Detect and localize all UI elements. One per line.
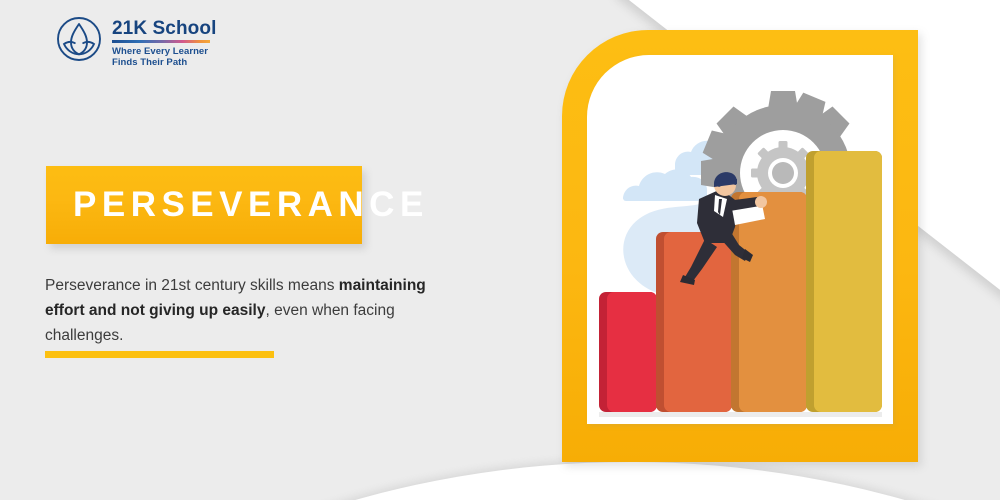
- brand-title: 21K School: [112, 19, 216, 39]
- brand-logo-text: 21K School Where Every Learner Finds The…: [112, 16, 216, 69]
- bar-4: [806, 151, 882, 412]
- slide-canvas: 21K School Where Every Learner Finds The…: [0, 0, 1000, 500]
- perseverance-illustration: [587, 55, 893, 424]
- brand-tagline-line2: Finds Their Path: [112, 57, 187, 68]
- brand-tagline: Where Every Learner Finds Their Path: [112, 46, 216, 69]
- illustration-frame: [562, 30, 918, 462]
- bar-3: [731, 192, 807, 412]
- description-lead: Perseverance in 21st century skills mean…: [45, 277, 339, 294]
- ground-line: [599, 412, 882, 417]
- bar-1: [599, 292, 657, 412]
- page-title: PERSEVERANCE: [46, 185, 429, 225]
- brand-underline: [112, 40, 210, 43]
- brand-logo[interactable]: 21K School Where Every Learner Finds The…: [56, 16, 216, 69]
- background-curve-bottom-right: [0, 462, 1000, 500]
- title-banner: PERSEVERANCE: [46, 166, 362, 244]
- accent-divider: [45, 351, 274, 358]
- description-text: Perseverance in 21st century skills mean…: [45, 273, 465, 348]
- bar-2: [656, 232, 732, 412]
- illustration-canvas: [587, 55, 893, 424]
- brand-tagline-line1: Where Every Learner: [112, 46, 208, 57]
- lotus-circle-icon: [56, 16, 102, 62]
